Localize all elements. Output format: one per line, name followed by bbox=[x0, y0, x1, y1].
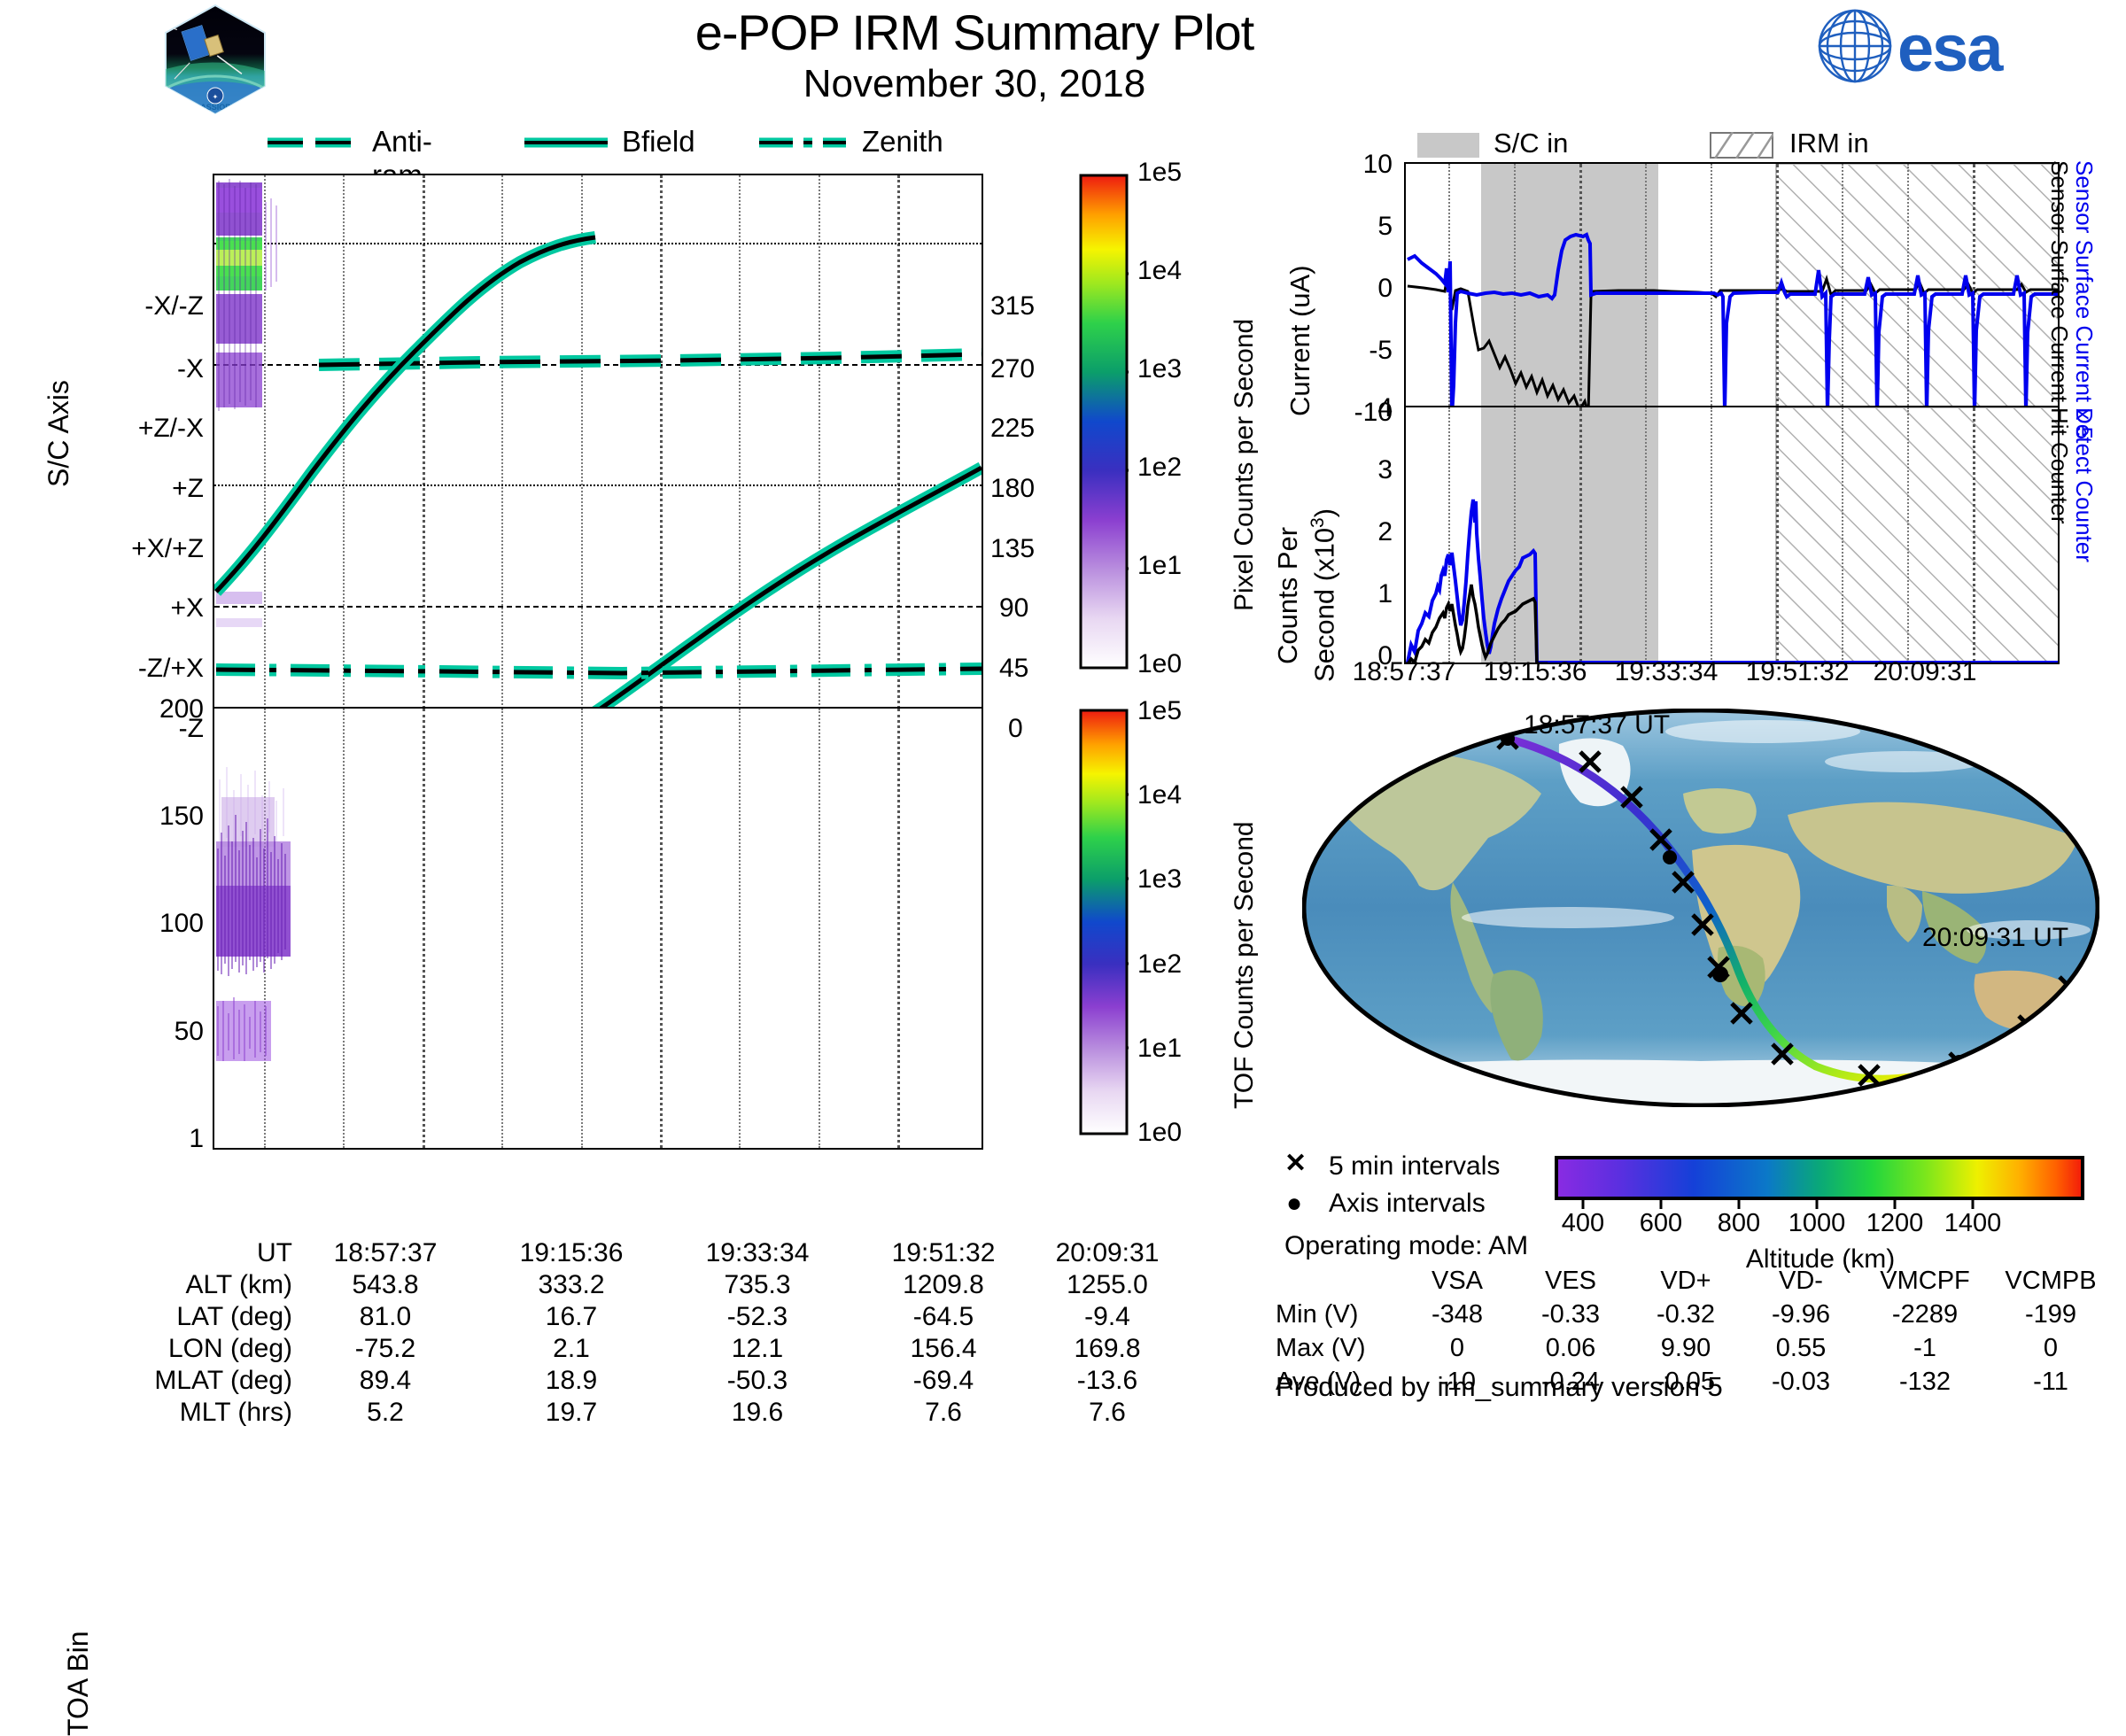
orbit-ut-2: 19:33:34 bbox=[673, 1238, 842, 1268]
orbit-alt-3: 1209.8 bbox=[859, 1270, 1028, 1300]
eclipse-swatch bbox=[1417, 133, 1479, 158]
cb2-tick-1e3: 1e3 bbox=[1137, 864, 1182, 895]
sc-zenith-line bbox=[214, 175, 983, 710]
cb2-tick-1e0: 1e0 bbox=[1137, 1118, 1182, 1148]
svg-text:CASSIOPE: CASSIOPE bbox=[195, 103, 237, 112]
orbit-lat-2: -52.3 bbox=[673, 1302, 842, 1332]
orbit-row-label-mlt: MLT (hrs) bbox=[35, 1398, 292, 1428]
orbit-lat-0: 81.0 bbox=[301, 1302, 469, 1332]
orbit-lon-4: 169.8 bbox=[1023, 1334, 1191, 1364]
toa-plot-area bbox=[213, 707, 983, 1150]
orbit-map: 18:57:37 UT 20:09:31 UT bbox=[1302, 709, 2099, 1107]
legend-swatch-dashdot bbox=[757, 134, 855, 151]
orbit-ut-1: 19:15:36 bbox=[487, 1238, 656, 1268]
vt-min-vdm: -9.96 bbox=[1734, 1300, 1867, 1329]
cnt-ytick-1: 1 bbox=[1295, 579, 1393, 609]
panel-counts: Counts Per Second (x103) 4 3 2 1 0 Dete bbox=[1240, 407, 2126, 673]
orbit-mlt-3: 7.6 bbox=[859, 1398, 1028, 1428]
vt-min-vdp: -0.32 bbox=[1619, 1300, 1752, 1329]
orbit-lon-3: 156.4 bbox=[859, 1334, 1028, 1364]
cb2-tick-1e5: 1e5 bbox=[1137, 696, 1182, 726]
legend-label-bfield: Bfield bbox=[622, 125, 695, 159]
cb1-tick-1e5: 1e5 bbox=[1137, 158, 1182, 188]
orbit-ut-0: 18:57:37 bbox=[301, 1238, 469, 1268]
footer-produced-by: Produced by irm_summary version 5 bbox=[1276, 1371, 1723, 1403]
cnt-ytick-2: 2 bbox=[1295, 517, 1393, 547]
cb1-tick-1e0: 1e0 bbox=[1137, 649, 1182, 679]
counts-black-trace bbox=[1406, 407, 2060, 664]
orbit-row-label-lat: LAT (deg) bbox=[35, 1302, 292, 1332]
orbit-ut-3: 19:51:32 bbox=[859, 1238, 1028, 1268]
orbit-lat-4: -9.4 bbox=[1023, 1302, 1191, 1332]
toa-ytick-200: 200 bbox=[97, 694, 204, 725]
rx-tick-2: 19:33:34 bbox=[1591, 657, 1742, 687]
alt-tick-1000: 1000 bbox=[1778, 1209, 1856, 1238]
map-end-label: 20:09:31 UT bbox=[1922, 923, 2068, 952]
orbit-table: UT ALT (km) LAT (deg) LON (deg) MLAT (de… bbox=[35, 1238, 1081, 1398]
orbit-row-label-alt: ALT (km) bbox=[35, 1270, 292, 1300]
legend-label-zenith: Zenith bbox=[862, 125, 943, 159]
vt-max-vdp: 9.90 bbox=[1619, 1334, 1752, 1363]
dot-marker-icon: ● bbox=[1286, 1189, 1302, 1219]
sc-ytick-0: -X/-Z bbox=[89, 291, 204, 322]
orbit-row-label-ut: UT bbox=[35, 1238, 292, 1268]
sc-ytick-right-2: 225 bbox=[990, 414, 1035, 444]
alt-tick-1400: 1400 bbox=[1934, 1209, 2012, 1238]
sc-axis-plot-area bbox=[213, 174, 983, 710]
orbit-mlt-1: 19.7 bbox=[487, 1398, 656, 1428]
legend-swatch-solid bbox=[523, 134, 611, 151]
cur-ytick-0: 0 bbox=[1295, 274, 1393, 304]
orbit-row-label-lon: LON (deg) bbox=[35, 1334, 292, 1364]
orbit-row-label-mlat: MLAT (deg) bbox=[35, 1366, 292, 1396]
legend-left: Anti-ram Bfield Zenith bbox=[266, 128, 939, 164]
orbit-lon-1: 2.1 bbox=[487, 1334, 656, 1364]
page-subtitle: November 30, 2018 bbox=[620, 62, 1329, 106]
orbit-alt-4: 1255.0 bbox=[1023, 1270, 1191, 1300]
alt-tick-800: 800 bbox=[1700, 1209, 1778, 1238]
orbit-mlat-1: 18.9 bbox=[487, 1366, 656, 1396]
svg-text:✦: ✦ bbox=[213, 93, 219, 101]
sc-ytick-right-4: 135 bbox=[990, 534, 1035, 564]
panel-sc-axis-ylabel: S/C Axis bbox=[43, 380, 75, 487]
vt-max-vdm: 0.55 bbox=[1734, 1334, 1867, 1363]
orbit-lon-0: -75.2 bbox=[301, 1334, 469, 1364]
panel-toa-bin: TOA Bin 200 150 100 50 1 bbox=[0, 709, 1063, 1222]
pixel-counts-colorbar: 1e5 1e4 1e3 1e2 1e1 1e0 Pixel Counts per… bbox=[1079, 168, 1238, 691]
esa-logo: esa bbox=[1816, 7, 2099, 85]
orbit-mlt-0: 5.2 bbox=[301, 1398, 469, 1428]
legend-axis-label: Axis intervals bbox=[1329, 1189, 1486, 1219]
legend-right: S/C in Eclipse IRM in S/C Shadow bbox=[1417, 129, 2126, 165]
orbit-mlat-0: 89.4 bbox=[301, 1366, 469, 1396]
panel-sc-axis: S/C Axis -X/-Z -X +Z/-X +Z +X/+Z +X -Z/+… bbox=[0, 159, 1063, 700]
cb2-tick-1e1: 1e1 bbox=[1137, 1034, 1182, 1064]
counts-right-label-black: Hit Counter bbox=[2045, 407, 2073, 524]
cb2-tick-1e2: 1e2 bbox=[1137, 949, 1182, 980]
cur-ytick-10: 10 bbox=[1295, 150, 1393, 180]
toa-ytick-50: 50 bbox=[97, 1017, 204, 1047]
cur-ytick-5: 5 bbox=[1295, 212, 1393, 242]
toa-ytick-labels: 200 150 100 50 1 bbox=[97, 709, 204, 1222]
vt-max-ves: 0.06 bbox=[1504, 1334, 1637, 1363]
orbit-alt-0: 543.8 bbox=[301, 1270, 469, 1300]
current-plot-area bbox=[1404, 162, 2060, 421]
sc-ytick-1: -X bbox=[89, 354, 204, 384]
sc-ytick-right-1: 270 bbox=[990, 354, 1035, 384]
vt-col-ves: VES bbox=[1504, 1267, 1637, 1296]
right-panels-xaxis: 18:57:37 19:15:36 19:33:34 19:51:32 20:0… bbox=[1240, 657, 2126, 693]
sc-ytick-2: +Z/-X bbox=[89, 414, 204, 444]
page-title: e-POP IRM Summary Plot bbox=[620, 4, 1329, 61]
cross-marker-icon: ✕ bbox=[1284, 1148, 1307, 1179]
cb1-tick-1e4: 1e4 bbox=[1137, 256, 1182, 286]
alt-tick-600: 600 bbox=[1622, 1209, 1700, 1238]
vt-col-vdm: VD- bbox=[1734, 1267, 1867, 1296]
alt-tick-1200: 1200 bbox=[1856, 1209, 1934, 1238]
rx-tick-0: 18:57:37 bbox=[1329, 657, 1479, 687]
orbit-alt-2: 735.3 bbox=[673, 1270, 842, 1300]
sc-ytick-3: +Z bbox=[89, 474, 204, 504]
counts-right-label-blue: Detect Counter bbox=[2070, 407, 2098, 562]
vt-row-max: Max (V) bbox=[1276, 1334, 1400, 1363]
current-blue-trace bbox=[1406, 164, 2060, 421]
sc-ytick-right-5: 90 bbox=[999, 593, 1028, 624]
header: ✦ CASSIOPE e-POP IRM Summary Plot Novemb… bbox=[0, 0, 2126, 115]
alt-tick-400: 400 bbox=[1544, 1209, 1622, 1238]
sc-ytick-6: -Z/+X bbox=[89, 654, 204, 684]
sc-ytick-labels-right: 315 270 225 180 135 90 45 0 bbox=[990, 159, 1070, 700]
cur-ytick-m5: -5 bbox=[1295, 336, 1393, 366]
toa-ytick-1: 1 bbox=[97, 1124, 204, 1154]
cb2-label: TOF Counts per Second bbox=[1230, 821, 1260, 1109]
legend-5min-label: 5 min intervals bbox=[1329, 1151, 1500, 1182]
sc-ytick-5: +X bbox=[89, 593, 204, 624]
vt-row-min: Min (V) bbox=[1276, 1300, 1400, 1329]
orbit-mlat-3: -69.4 bbox=[859, 1366, 1028, 1396]
cassiope-logo: ✦ CASSIOPE bbox=[162, 4, 268, 115]
altitude-colorbar: 400 600 800 1000 1200 1400 Altitude (km) bbox=[1555, 1156, 2104, 1262]
sc-ytick-right-0: 315 bbox=[990, 291, 1035, 322]
panel-current: Current (uA) 10 5 0 -5 -10 bbox=[1240, 164, 2126, 430]
vt-min-ves: -0.33 bbox=[1504, 1300, 1637, 1329]
sc-ytick-4: +X/+Z bbox=[89, 534, 204, 564]
vt-col-vcmpb: VCMPB bbox=[1975, 1267, 2126, 1296]
legend-swatch-dashed bbox=[266, 134, 363, 151]
vt-min-vcmpb: -199 bbox=[1975, 1300, 2126, 1329]
cnt-ytick-3: 3 bbox=[1295, 455, 1393, 485]
sc-ytick-right-6: 45 bbox=[999, 654, 1028, 684]
orbit-alt-1: 333.2 bbox=[487, 1270, 656, 1300]
orbit-mlat-4: -13.6 bbox=[1023, 1366, 1191, 1396]
svg-text:esa: esa bbox=[1897, 12, 2004, 85]
toa-ytick-100: 100 bbox=[97, 909, 204, 939]
current-right-label-black: Sensor Surface Current bbox=[2045, 160, 2073, 402]
cb1-tick-1e3: 1e3 bbox=[1137, 354, 1182, 384]
orbit-mlt-4: 7.6 bbox=[1023, 1398, 1191, 1428]
vt-ave-vcmpb: -11 bbox=[1975, 1368, 2126, 1397]
orbit-ut-4: 20:09:31 bbox=[1023, 1238, 1191, 1268]
current-ytick-labels: 10 5 0 -5 -10 bbox=[1295, 164, 1393, 421]
rx-tick-1: 19:15:36 bbox=[1460, 657, 1610, 687]
sc-ytick-right-3: 180 bbox=[990, 474, 1035, 504]
sc-ytick-labels-left: -X/-Z -X +Z/-X +Z +X/+Z +X -Z/+X -Z bbox=[89, 159, 204, 700]
shadow-swatch bbox=[1710, 132, 1773, 159]
tof-counts-colorbar: 1e5 1e4 1e3 1e2 1e1 1e0 TOF Counts per S… bbox=[1079, 709, 1238, 1160]
vt-ave-vdm: -0.03 bbox=[1734, 1368, 1867, 1397]
vt-col-vdp: VD+ bbox=[1619, 1267, 1752, 1296]
orbit-lon-2: 12.1 bbox=[673, 1334, 842, 1364]
rx-tick-4: 20:09:31 bbox=[1850, 657, 2000, 687]
cb1-tick-1e1: 1e1 bbox=[1137, 551, 1182, 581]
orbit-lat-1: 16.7 bbox=[487, 1302, 656, 1332]
current-right-label-blue: Sensor Surface Current x 5 bbox=[2070, 160, 2098, 439]
toa-ytick-150: 150 bbox=[97, 802, 204, 832]
map-start-label: 18:57:37 UT bbox=[1524, 710, 1670, 740]
orbit-mlat-2: -50.3 bbox=[673, 1366, 842, 1396]
counts-plot-area bbox=[1404, 406, 2060, 664]
vt-max-vcmpb: 0 bbox=[1975, 1334, 2126, 1363]
cb1-tick-1e2: 1e2 bbox=[1137, 453, 1182, 483]
panel-toa-ylabel: TOA Bin bbox=[62, 1631, 95, 1736]
orbit-mlt-2: 19.6 bbox=[673, 1398, 842, 1428]
cb2-tick-1e4: 1e4 bbox=[1137, 780, 1182, 810]
toa-spectrogram bbox=[216, 709, 331, 1150]
orbit-lat-3: -64.5 bbox=[859, 1302, 1028, 1332]
counts-ytick-labels: 4 3 2 1 0 bbox=[1295, 407, 1393, 664]
operating-mode: Operating mode: AM bbox=[1284, 1231, 1528, 1261]
cnt-ytick-4: 4 bbox=[1295, 393, 1393, 423]
